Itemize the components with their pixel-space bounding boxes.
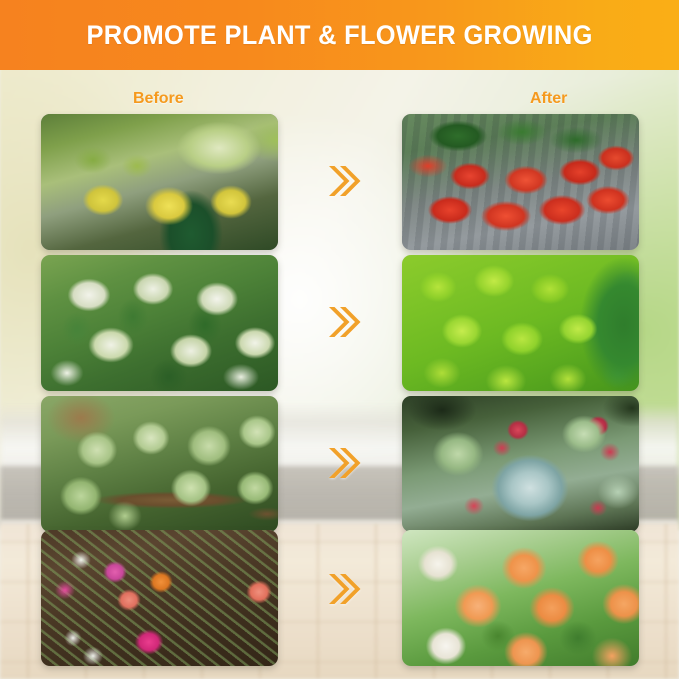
photo-strawberry-after — [402, 114, 639, 250]
before-image-strawberry — [41, 114, 278, 250]
photo-pothos-before — [41, 255, 278, 391]
before-column-label: Before — [133, 90, 184, 108]
after-image-flower — [402, 530, 639, 666]
photo-pothos-after — [402, 255, 639, 391]
double-chevron-right-icon — [320, 158, 366, 204]
photo-flower-after — [402, 530, 639, 666]
after-column-label: After — [530, 90, 567, 108]
header-banner: PROMOTE PLANT & FLOWER GROWING — [0, 0, 679, 70]
double-chevron-right-icon — [320, 566, 366, 612]
after-image-pothos — [402, 255, 639, 391]
before-image-succulent — [41, 396, 278, 532]
after-image-succulent — [402, 396, 639, 532]
double-chevron-right-icon — [320, 299, 366, 345]
photo-strawberry-before — [41, 114, 278, 250]
double-chevron-right-icon — [320, 440, 366, 486]
photo-succulent-after — [402, 396, 639, 532]
before-image-flower — [41, 530, 278, 666]
photo-flower-before — [41, 530, 278, 666]
after-image-strawberry — [402, 114, 639, 250]
photo-succulent-before — [41, 396, 278, 532]
page-title: PROMOTE PLANT & FLOWER GROWING — [86, 20, 592, 51]
before-image-pothos — [41, 255, 278, 391]
promo-image-root: PROMOTE PLANT & FLOWER GROWING Before Af… — [0, 0, 679, 679]
